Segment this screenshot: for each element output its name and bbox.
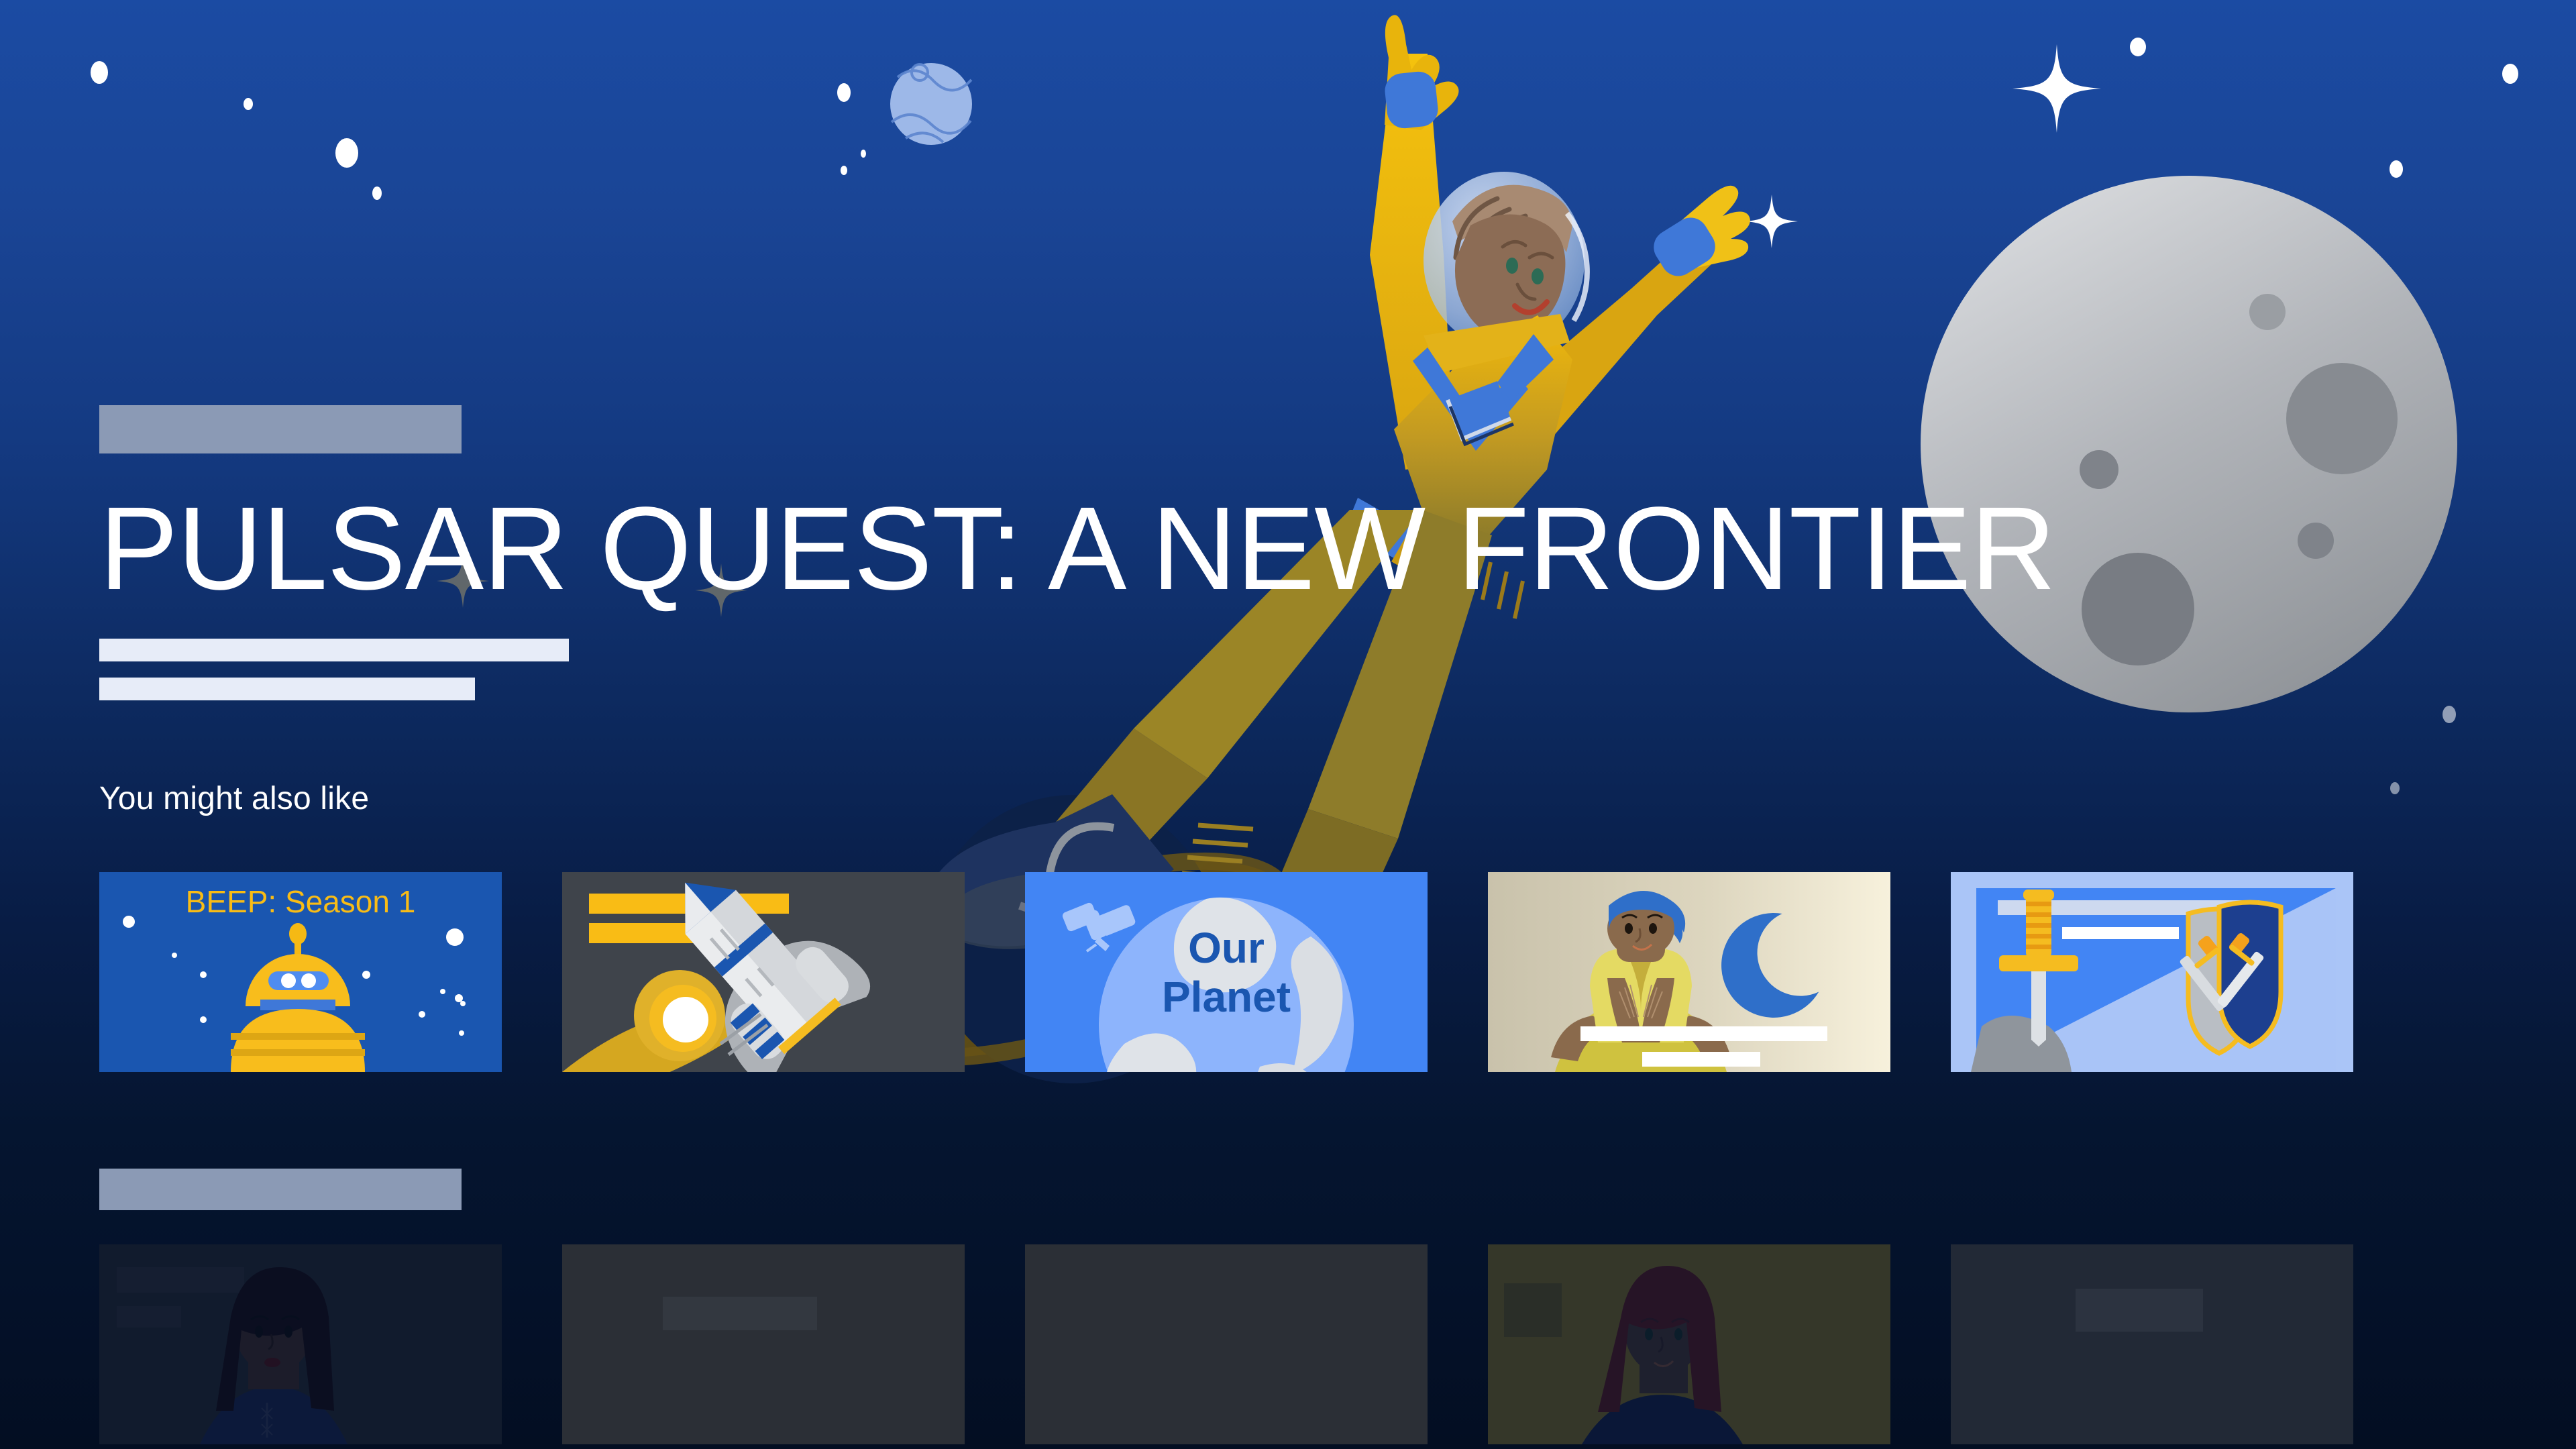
blank-card-illustration-2 bbox=[1025, 1244, 1428, 1444]
hero-subtitle-placeholder-2 bbox=[99, 678, 475, 700]
card-placeholder-bar-2 bbox=[2062, 927, 2179, 939]
hero-page: PULSAR QUEST: A NEW FRONTIER You might a… bbox=[0, 0, 2576, 1449]
woman-dark-illustration bbox=[99, 1244, 502, 1444]
shelf-row-2 bbox=[99, 1244, 2353, 1444]
card-sword-shield[interactable] bbox=[1951, 872, 2353, 1072]
card-placeholder-bar-1 bbox=[1580, 1026, 1827, 1041]
hero-kicker-placeholder bbox=[99, 405, 462, 453]
card-placeholder-bar-2 bbox=[1642, 1052, 1760, 1067]
card-row2-5[interactable] bbox=[1951, 1244, 2353, 1444]
card-our-planet[interactable]: Our Planet bbox=[1025, 872, 1428, 1072]
space-background-art bbox=[0, 0, 2576, 1449]
card-rocket-launch[interactable] bbox=[562, 872, 965, 1072]
shield bbox=[2179, 902, 2281, 1053]
page-title: PULSAR QUEST: A NEW FRONTIER bbox=[99, 495, 2045, 604]
card-row2-2[interactable] bbox=[562, 1244, 965, 1444]
blank-card-illustration-3 bbox=[1951, 1244, 2353, 1444]
hero-subtitle-placeholder-1 bbox=[99, 639, 569, 661]
small-planet bbox=[890, 63, 972, 145]
sword-shield-illustration bbox=[1951, 872, 2353, 1072]
card-meditation[interactable] bbox=[1488, 872, 1890, 1072]
woman-red-illustration bbox=[1488, 1244, 1890, 1444]
sparkle-icon-group bbox=[1746, 44, 2101, 248]
shelf-title-row-1: You might also like bbox=[99, 780, 369, 817]
card-row2-4[interactable] bbox=[1488, 1244, 1890, 1444]
shelf-title-row-2-placeholder bbox=[99, 1169, 462, 1210]
rocket-illustration bbox=[562, 872, 965, 1072]
card-row2-3[interactable] bbox=[1025, 1244, 1428, 1444]
person-moon-illustration bbox=[1488, 872, 1890, 1072]
hero-block: PULSAR QUEST: A NEW FRONTIER bbox=[99, 405, 2045, 700]
card-label-our: Our bbox=[1188, 924, 1265, 972]
card-beep-season-1[interactable]: BEEP: Season 1 bbox=[99, 872, 502, 1072]
robot-illustration: BEEP: Season 1 bbox=[99, 872, 502, 1072]
card-label-planet: Planet bbox=[1162, 973, 1291, 1021]
card-row2-1[interactable] bbox=[99, 1244, 502, 1444]
blank-card-illustration bbox=[562, 1244, 965, 1444]
earth-illustration: Our Planet bbox=[1025, 872, 1428, 1072]
shelf-row-1: BEEP: Season 1 bbox=[99, 872, 2353, 1072]
card-label-beep: BEEP: Season 1 bbox=[186, 884, 416, 919]
